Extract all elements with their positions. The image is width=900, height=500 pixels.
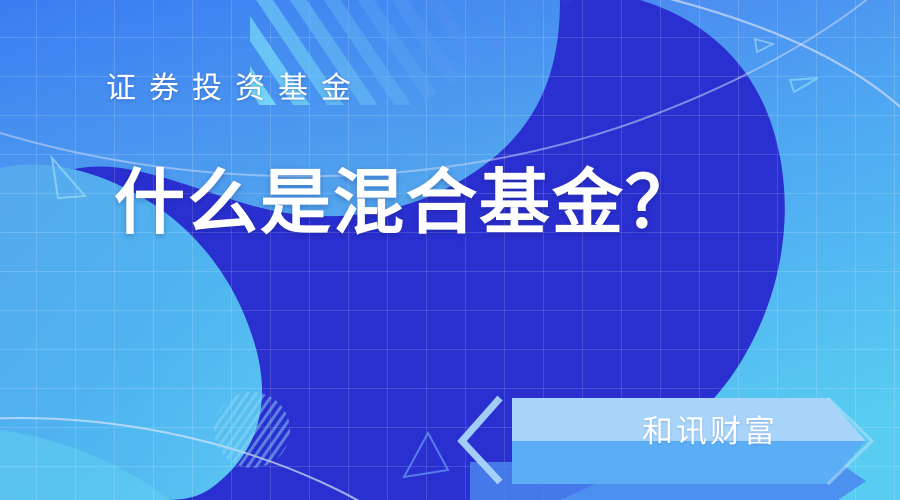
triangle-outline-top-right-large [790, 78, 818, 92]
poster-title: 什么是混合基金？ [114, 168, 698, 239]
arc-line-bottom-left [0, 418, 420, 500]
brand-name-label: 和讯财富 [580, 410, 840, 454]
poster-subtitle: 证券投资基金 [106, 70, 698, 108]
triangle-outline-top-right-small [755, 39, 773, 52]
striped-circle-bottom-left [214, 392, 290, 468]
headline-group: 证券投资基金 什么是混合基金？ [106, 70, 698, 239]
poster-canvas: 证券投资基金 什么是混合基金？ 和讯财富 [0, 0, 900, 500]
triangle-outline-left [52, 158, 85, 198]
bottom-left-cyan-wedge [0, 430, 170, 500]
brand-badge: 和讯财富 [470, 394, 900, 486]
triangle-outline-bottom-center [404, 433, 448, 477]
